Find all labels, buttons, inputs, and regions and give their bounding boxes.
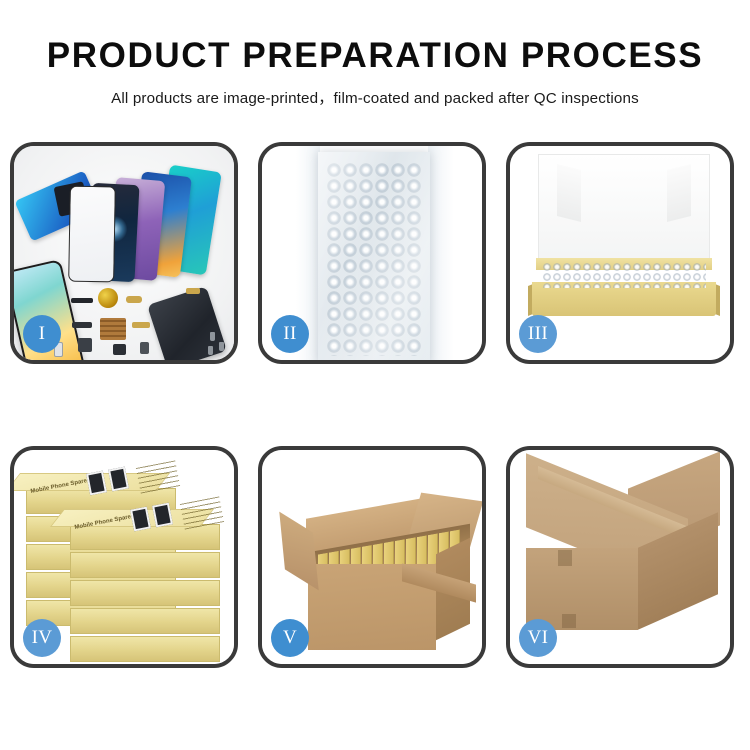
step-numeral: II	[283, 323, 296, 345]
step-badge-6: VI	[519, 619, 557, 657]
step-numeral: IV	[32, 627, 53, 649]
inner-box-tray	[532, 258, 716, 316]
retail-box	[70, 580, 220, 606]
spare-part	[132, 322, 150, 328]
retail-box	[70, 636, 220, 662]
step-badge-2: II	[271, 315, 309, 353]
process-step-grid: I II	[10, 142, 742, 668]
screen-protector-glass	[68, 186, 116, 283]
product-preparation-page: PRODUCT PREPARATION PROCESS All products…	[0, 0, 750, 750]
step-badge-5: V	[271, 619, 309, 657]
process-step-card-5: V	[258, 446, 486, 668]
screw-part	[219, 342, 224, 351]
process-step-card-4: Mobile Phone Spare Parts Mobile Phone Sp…	[10, 446, 238, 668]
step-numeral: I	[39, 323, 46, 345]
process-step-card-2: II	[258, 142, 486, 364]
step-numeral: V	[283, 627, 297, 649]
process-step-card-3: III	[506, 142, 734, 364]
retail-box	[70, 552, 220, 578]
copper-coil-part	[98, 288, 118, 308]
bubble-wrap-pack	[318, 152, 430, 360]
step-badge-1: I	[23, 315, 61, 353]
spare-part	[186, 288, 200, 294]
spare-part	[113, 344, 126, 355]
spare-part	[71, 298, 93, 303]
bubble-wrapped-contents	[542, 262, 706, 288]
process-step-card-1: I	[10, 142, 238, 364]
open-shipping-carton	[284, 490, 470, 656]
step-numeral: VI	[528, 627, 549, 649]
step-badge-3: III	[519, 315, 557, 353]
step-badge-4: IV	[23, 619, 61, 657]
spare-part	[126, 296, 142, 303]
step-numeral: III	[528, 323, 548, 345]
screw-part	[208, 346, 213, 355]
page-header: PRODUCT PREPARATION PROCESS All products…	[0, 0, 750, 108]
page-subtitle: All products are image-printed，film-coat…	[0, 86, 750, 108]
inner-box-lid	[538, 154, 710, 266]
page-title: PRODUCT PREPARATION PROCESS	[0, 38, 750, 75]
box-art-screen	[108, 467, 129, 492]
spare-part	[78, 338, 92, 352]
spare-part	[72, 322, 92, 328]
process-step-card-6: VI	[506, 446, 734, 668]
retail-box	[70, 608, 220, 634]
spare-part	[100, 318, 126, 340]
spare-part	[140, 342, 149, 354]
screw-part	[210, 332, 215, 341]
